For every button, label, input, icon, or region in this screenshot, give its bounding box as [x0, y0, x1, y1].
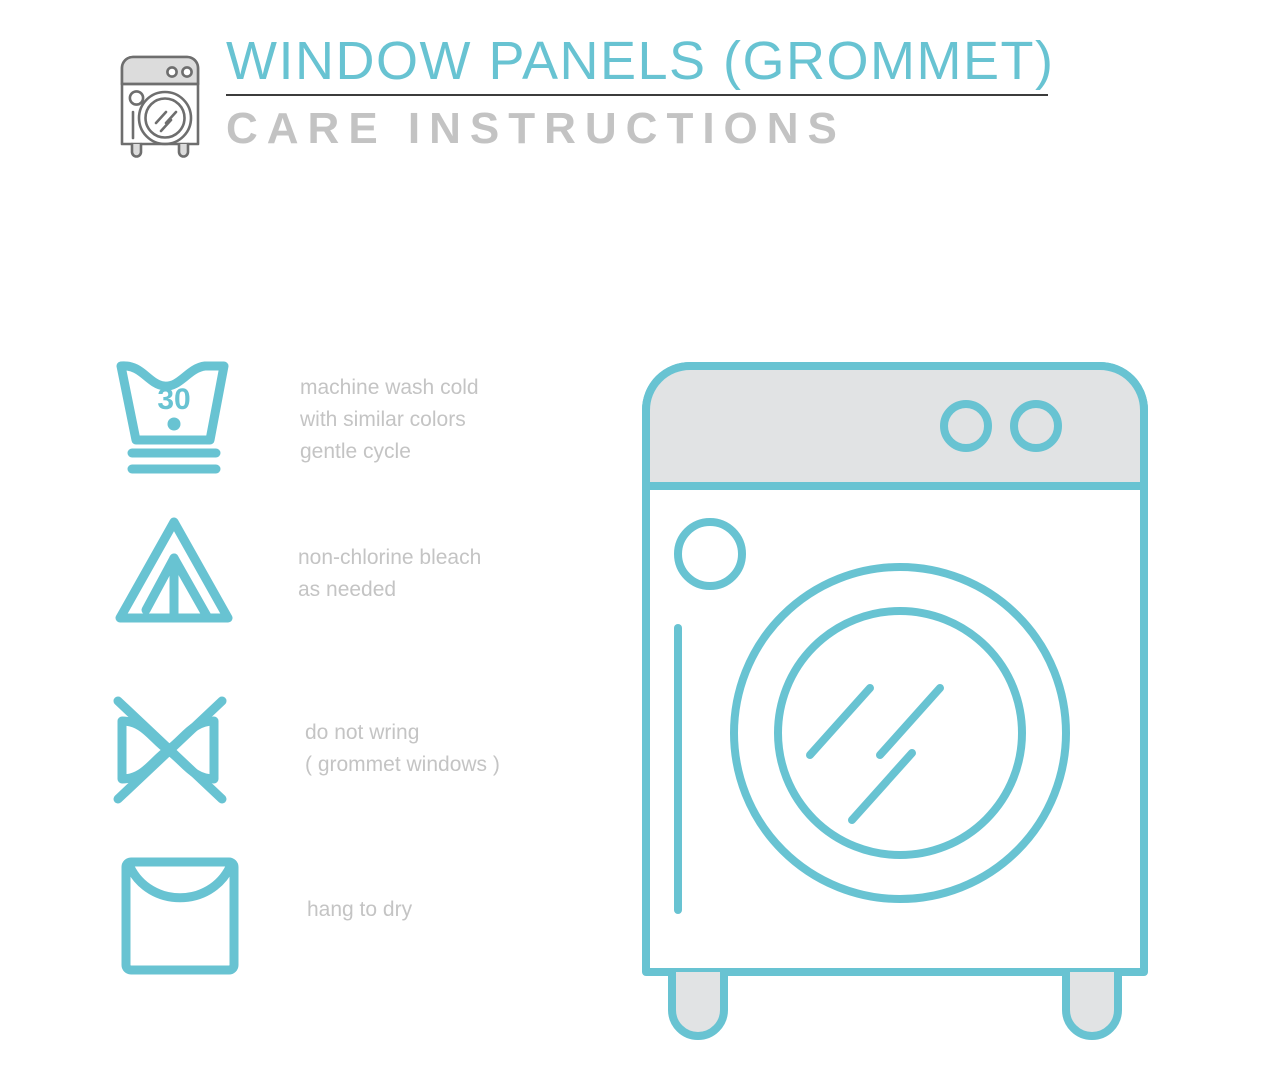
hang-to-dry-icon [116, 850, 266, 980]
page-title: WINDOW PANELS (GROMMET) [226, 34, 1056, 88]
care-item-label-do-not-wring: do not wring ( grommet windows ) [305, 717, 500, 781]
title-divider [226, 94, 1048, 96]
washing-machine-illustration [630, 350, 1180, 1050]
do-not-wring-icon [104, 685, 254, 815]
page-header: WINDOW PANELS (GROMMET) CARE INSTRUCTION… [0, 0, 1280, 200]
non-chlorine-bleach-triangle-icon [108, 510, 258, 640]
page-subtitle: CARE INSTRUCTIONS [226, 107, 1056, 151]
care-item-label-machine-wash: machine wash cold with similar colors ge… [300, 372, 479, 468]
wash-temperature-label: 30 [157, 383, 190, 416]
care-item-label-hang-to-dry: hang to dry [307, 894, 412, 926]
care-item-label-bleach: non-chlorine bleach as needed [298, 542, 481, 606]
washing-machine-icon [108, 28, 212, 160]
machine-wash-tub-icon: 30 [112, 350, 262, 480]
title-block: WINDOW PANELS (GROMMET) CARE INSTRUCTION… [226, 34, 1056, 151]
